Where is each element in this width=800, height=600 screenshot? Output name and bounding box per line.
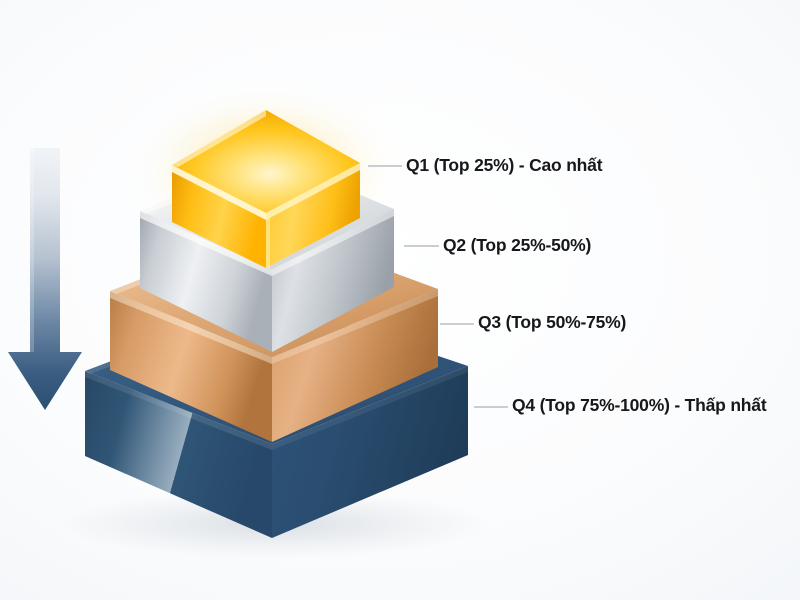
- pyramid-label-q4: Q4 (Top 75%-100%) - Thấp nhất: [512, 397, 766, 415]
- pyramid-label-q3: Q3 (Top 50%-75%): [478, 314, 626, 332]
- pyramid-label-q1: Q1 (Top 25%) - Cao nhất: [406, 157, 602, 175]
- pyramid-label-q2: Q2 (Top 25%-50%): [443, 237, 591, 255]
- downward-arrow-icon: [8, 148, 82, 410]
- pyramid-diagram: Q1 (Top 25%) - Cao nhất Q2 (Top 25%-50%)…: [0, 0, 800, 600]
- pyramid-graphic: [0, 0, 800, 600]
